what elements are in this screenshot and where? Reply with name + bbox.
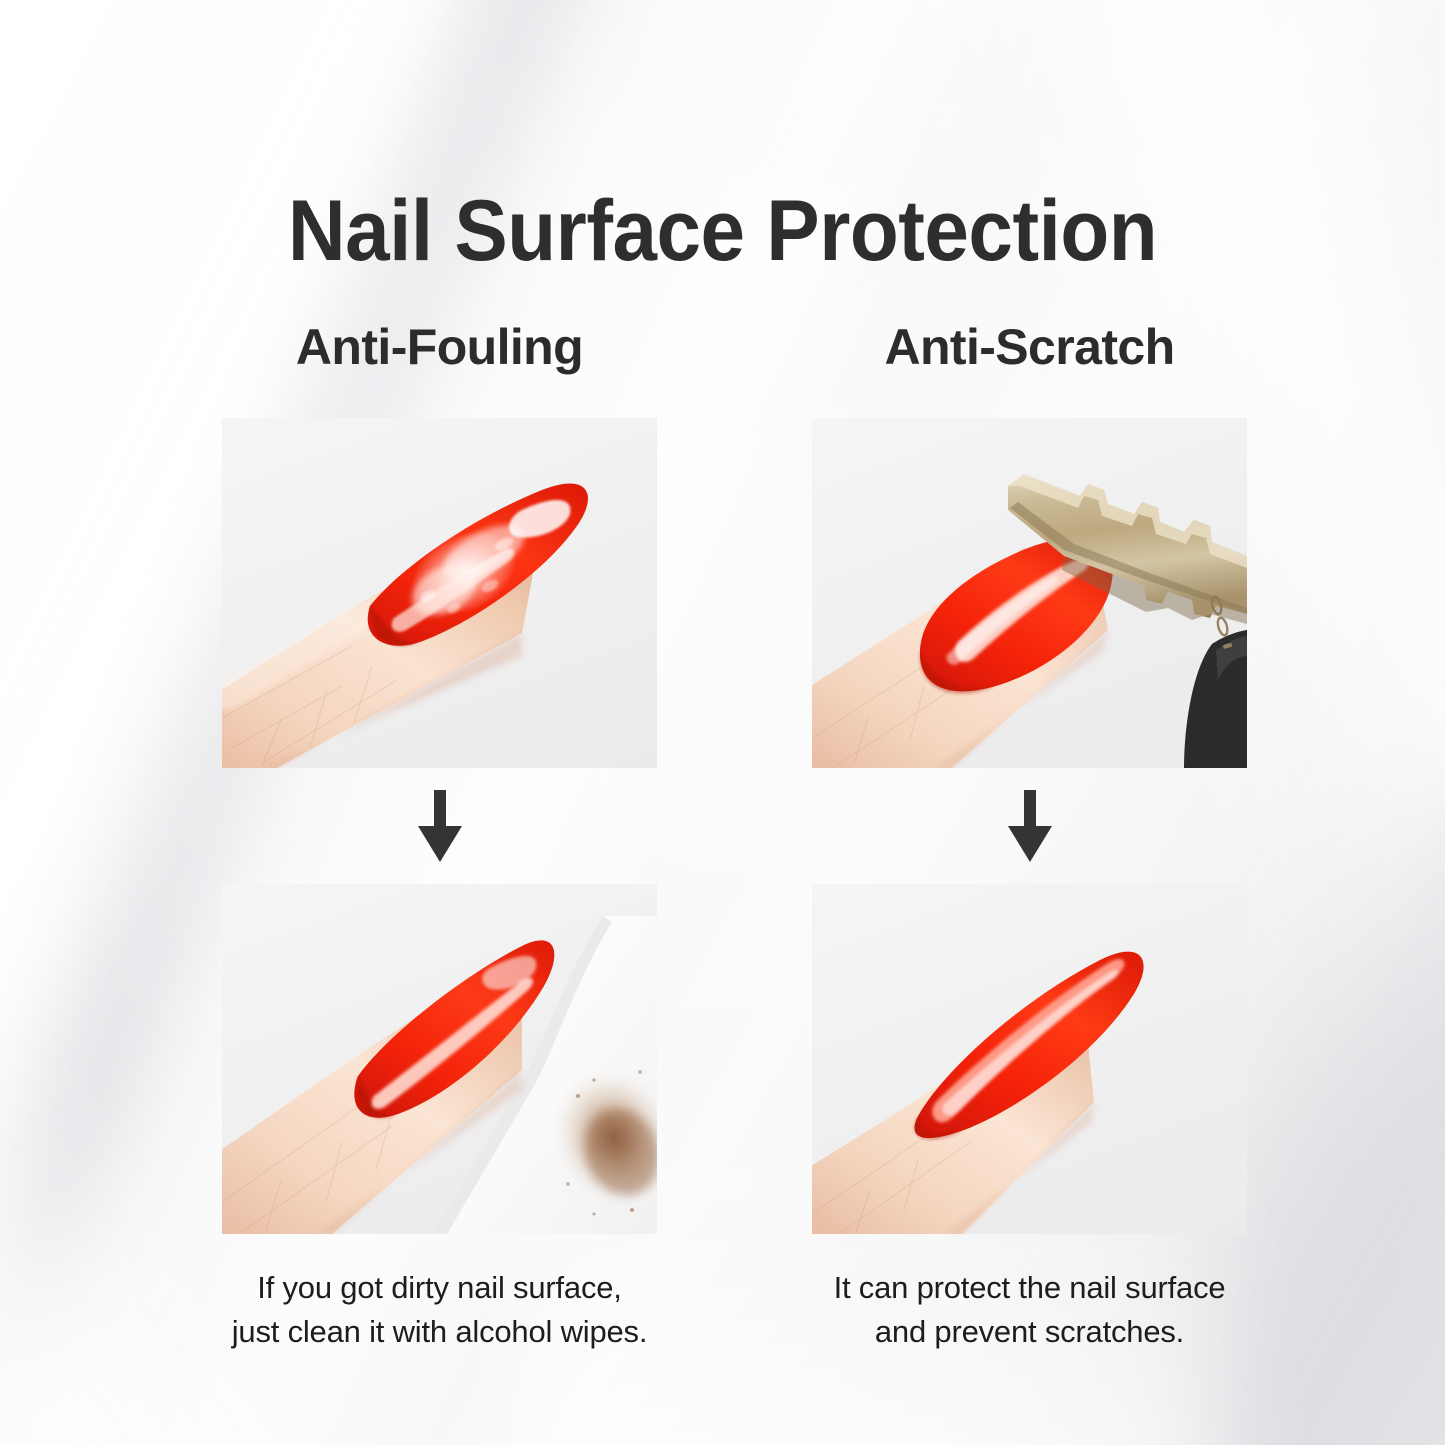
dirty-nail-photo bbox=[222, 418, 657, 768]
infographic-page: Nail Surface Protection Anti-Fouling bbox=[0, 0, 1445, 1445]
column-anti-scratch: Anti-Scratch bbox=[812, 318, 1247, 1354]
caption-anti-scratch: It can protect the nail surface and prev… bbox=[834, 1266, 1226, 1354]
cleaned-nail-with-wipe-photo bbox=[222, 884, 657, 1234]
comparison-columns: Anti-Fouling bbox=[222, 318, 1247, 1354]
down-arrow-icon bbox=[417, 790, 463, 864]
caption-line: It can protect the nail surface bbox=[834, 1266, 1226, 1310]
caption-anti-fouling: If you got dirty nail surface, just clea… bbox=[232, 1266, 648, 1354]
key-scratch-illustration bbox=[812, 418, 1247, 768]
column-anti-fouling: Anti-Fouling bbox=[222, 318, 657, 1354]
dirty-nail-illustration bbox=[222, 418, 657, 768]
unscratched-nail-illustration bbox=[812, 884, 1247, 1234]
cleaned-nail-illustration bbox=[222, 884, 657, 1234]
caption-line: and prevent scratches. bbox=[834, 1310, 1226, 1354]
caption-line: just clean it with alcohol wipes. bbox=[232, 1310, 648, 1354]
unscratched-nail-photo bbox=[812, 884, 1247, 1234]
key-scratch-test-photo bbox=[812, 418, 1247, 768]
page-title: Nail Surface Protection bbox=[51, 182, 1395, 281]
column-heading-anti-scratch: Anti-Scratch bbox=[884, 318, 1174, 376]
down-arrow-icon bbox=[1007, 790, 1053, 864]
caption-line: If you got dirty nail surface, bbox=[232, 1266, 648, 1310]
column-heading-anti-fouling: Anti-Fouling bbox=[296, 318, 583, 376]
